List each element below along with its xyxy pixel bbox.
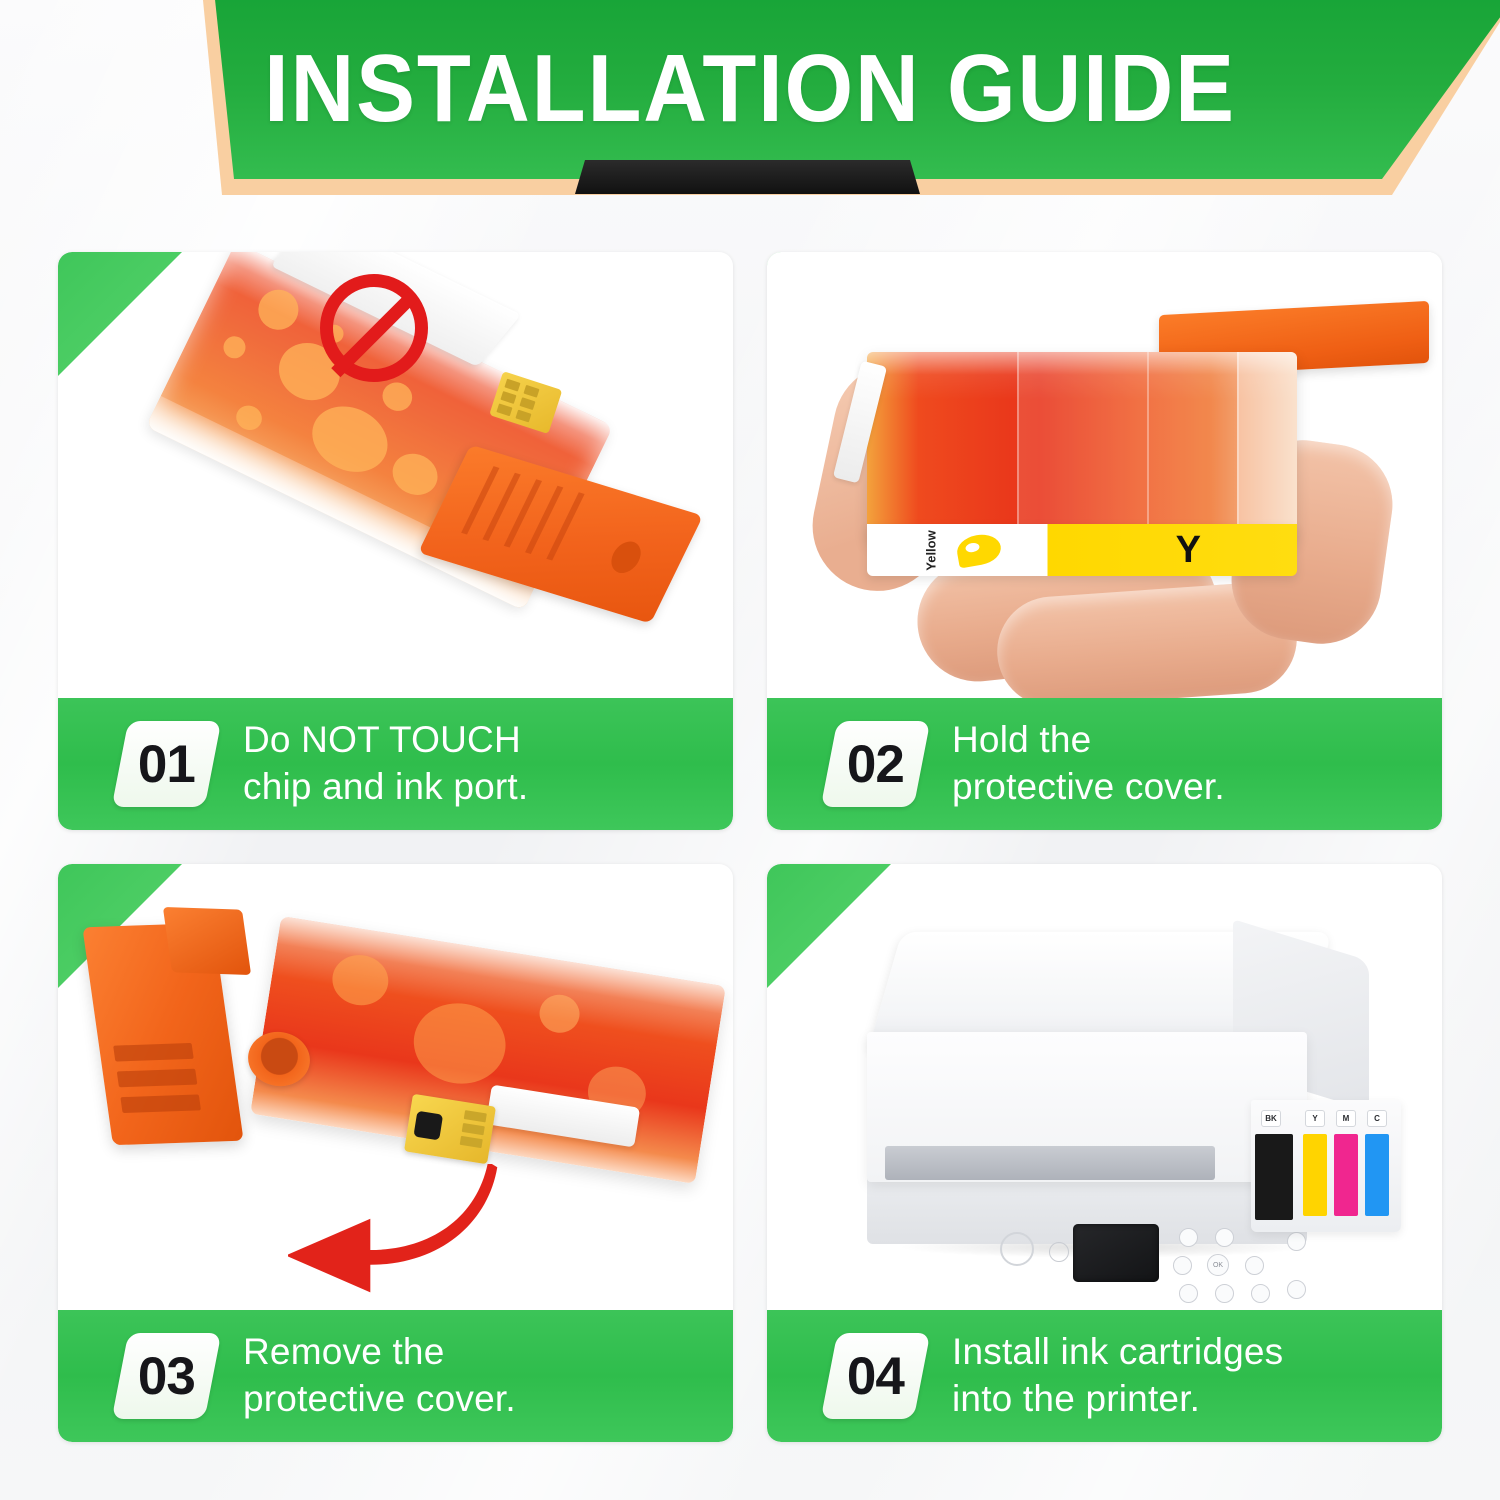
step-number-03: 03 [138,1346,195,1407]
color-start-button[interactable] [1287,1280,1306,1299]
ink-tag-c: C [1367,1110,1387,1127]
step-number-04: 04 [847,1346,904,1407]
step-text-line2-03: protective cover. [243,1376,516,1423]
step-text-line1-01: Do NOT TOUCH [243,719,521,760]
copy-button[interactable] [1251,1284,1270,1303]
arrow-left-button[interactable] [1173,1256,1192,1275]
arrow-up-button[interactable] [1215,1228,1234,1247]
home-button[interactable] [1049,1242,1069,1262]
step-text-line2-01: chip and ink port. [243,764,528,811]
printer-illustration: OK BK Y M C [767,864,1442,1310]
ink-tank-panel: BK Y M C [1251,1100,1401,1232]
cartridge-body-icon [867,352,1297,542]
step-photo-01 [58,252,733,698]
output-tray [885,1146,1215,1180]
arrow-right-button[interactable] [1245,1256,1264,1275]
step-card-03[interactable]: 03 Remove the protective cover. [58,864,733,1442]
step-caption-01: 01 Do NOT TOUCH chip and ink port. [58,698,733,830]
step-photo-04: OK BK Y M C [767,864,1442,1310]
page-title: INSTALLATION GUIDE [60,34,1440,144]
cartridge-color-label: Yellow Y [867,524,1297,576]
ink-window-c [1365,1134,1389,1216]
step-text-line1-02: Hold the [952,719,1091,760]
no-touch-prohibition-icon [320,274,428,382]
protective-cover-icon [418,445,703,624]
page-header: INSTALLATION GUIDE [0,0,1500,205]
step-text-line1-03: Remove the [243,1331,445,1372]
ok-button-label: OK [1213,1262,1223,1269]
step-number-badge-02: 02 [821,721,931,807]
banner-bottom-tab [575,160,920,194]
ink-tag-bk: BK [1261,1110,1281,1127]
step-number-badge-04: 04 [821,1333,931,1419]
lcd-screen [1073,1224,1159,1282]
step-caption-02: 02 Hold the protective cover. [767,698,1442,830]
step-card-02[interactable]: Yellow Y 02 Hold the protective cover. [767,252,1442,830]
cartridge-color-name: Yellow [924,530,939,570]
steps-grid: 01 Do NOT TOUCH chip and ink port. [58,252,1442,1460]
step-text-line2-02: protective cover. [952,764,1225,811]
step-text-02: Hold the protective cover. [952,717,1225,810]
step-text-line2-04: into the printer. [952,1376,1283,1423]
ink-tag-m: M [1336,1110,1356,1127]
step-text-01: Do NOT TOUCH chip and ink port. [243,717,528,810]
step-caption-03: 03 Remove the protective cover. [58,1310,733,1442]
settings-button[interactable] [1179,1228,1198,1247]
step-text-03: Remove the protective cover. [243,1329,516,1422]
mono-start-button[interactable] [1287,1232,1306,1251]
ok-button[interactable]: OK [1207,1254,1229,1276]
ink-tag-y: Y [1305,1110,1325,1127]
step-number-01: 01 [138,734,195,795]
remove-direction-arrow-icon [288,1164,518,1294]
step-card-04[interactable]: OK BK Y M C [767,864,1442,1442]
cartridge-color-code: Y [1176,530,1201,570]
step-number-02: 02 [847,734,904,795]
back-button[interactable] [1179,1284,1198,1303]
step-text-line1-04: Install ink cartridges [952,1331,1283,1372]
power-button[interactable] [1000,1232,1034,1266]
ink-window-bk [1255,1134,1293,1220]
step-card-01[interactable]: 01 Do NOT TOUCH chip and ink port. [58,252,733,830]
cartridge-chip-icon [404,1094,496,1164]
ink-drop-icon [955,531,1004,568]
cover-latch-icon [163,907,251,975]
step-photo-02: Yellow Y [767,252,1442,698]
step-caption-04: 04 Install ink cartridges into the print… [767,1310,1442,1442]
arrow-down-button[interactable] [1215,1284,1234,1303]
step-number-badge-03: 03 [112,1333,222,1419]
ink-window-y [1303,1134,1327,1216]
step-text-04: Install ink cartridges into the printer. [952,1329,1283,1422]
ink-window-m [1334,1134,1358,1216]
step-photo-03 [58,864,733,1310]
step-number-badge-01: 01 [112,721,222,807]
